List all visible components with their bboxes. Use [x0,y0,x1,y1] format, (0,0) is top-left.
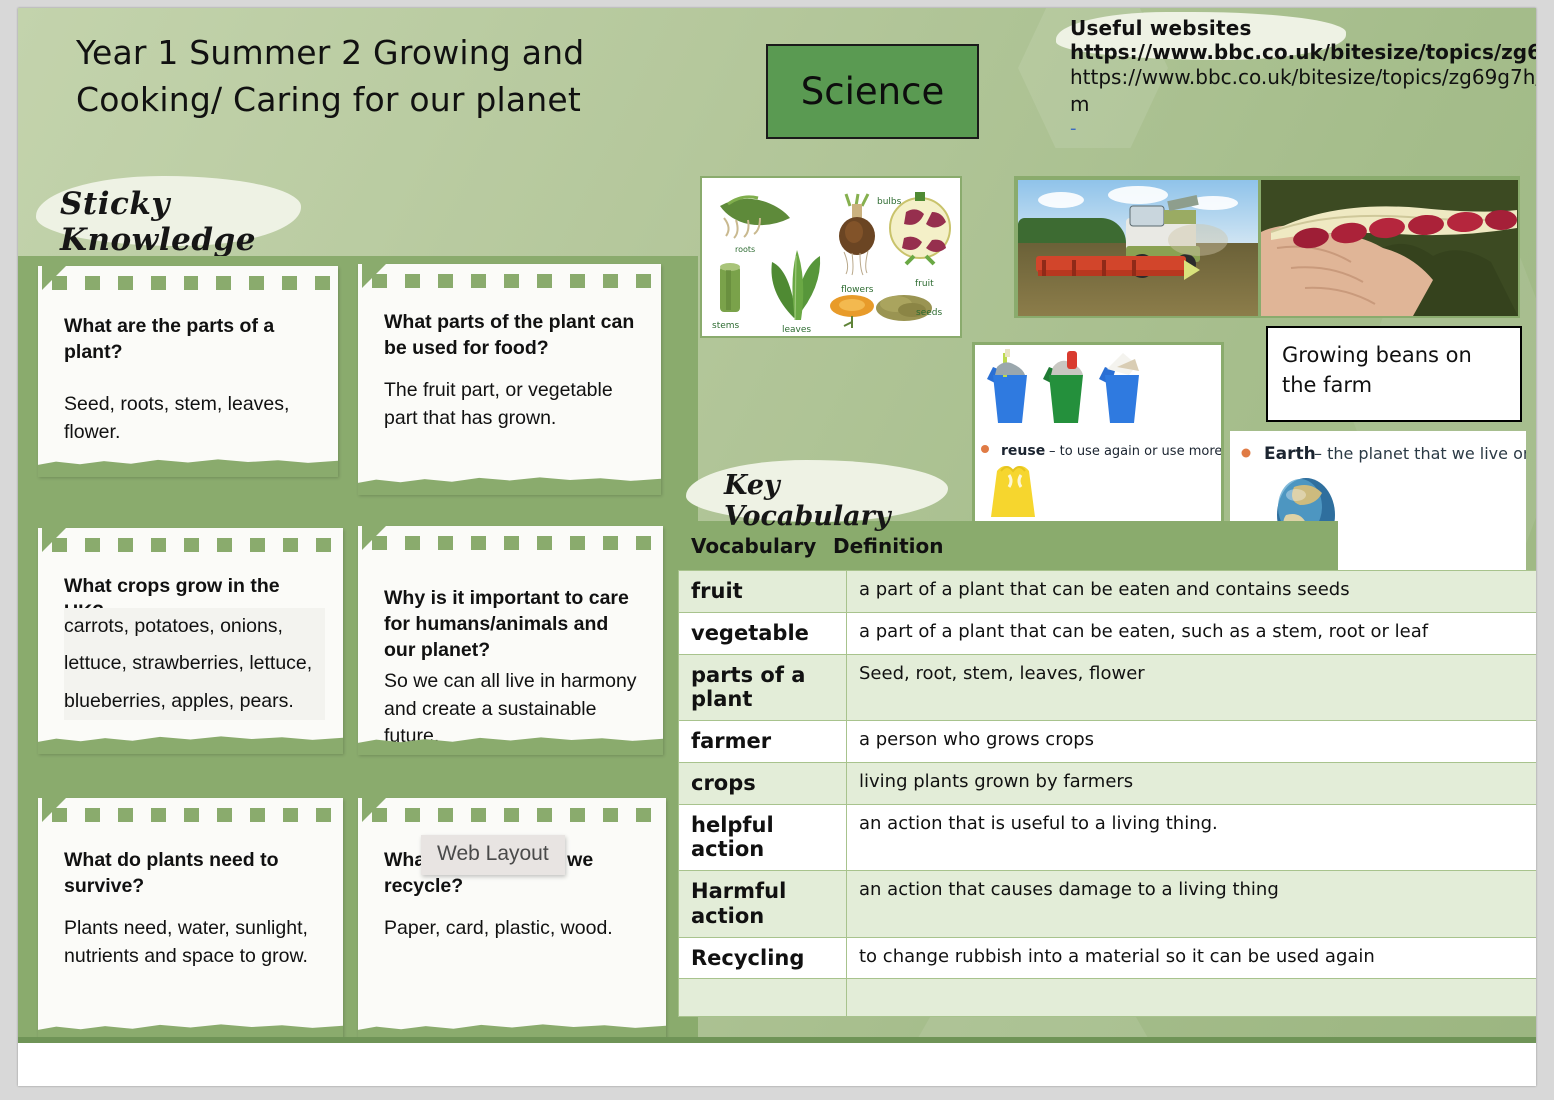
card-question: What do plants need to survive? [64,848,325,900]
card-answer: So we can all live in harmony and create… [384,668,645,751]
farm-caption-box: Growing beans on the farm [1266,326,1522,422]
farm-photos-strip [1014,176,1520,318]
table-row: vegetable a part of a plant that can be … [679,612,1537,654]
useful-websites-heading: Useful websites [1070,16,1536,40]
vocab-definition: to change rubbish into a material so it … [847,937,1537,979]
table-row-empty [679,979,1537,1017]
perforation-strip [52,538,335,552]
sticky-note-card: What parts of the plant can be used for … [358,264,661,494]
svg-text:Earth: Earth [1264,444,1316,464]
svg-text:stems: stems [712,321,740,331]
perforation-strip [52,808,335,822]
perforation-strip [372,536,655,550]
vocab-term: fruit [679,571,847,613]
vocab-term: Harmful action [679,871,847,938]
sticky-note-card: What crops grow in the UK? carrots, pota… [38,528,343,753]
card-question: Why is it important to care for humans/a… [384,586,645,664]
web-layout-tooltip: Web Layout [421,835,565,875]
vocab-term: parts of a plant [679,654,847,721]
bean-pod-photo [1261,180,1518,316]
table-row: farmer a person who grows crops [679,721,1537,763]
perforation-strip [372,274,653,288]
vocab-term: Recycling [679,937,847,979]
vocab-term: vegetable [679,612,847,654]
card-question: What parts of the plant can be used for … [384,310,643,362]
svg-text:leaves: leaves [782,325,811,335]
card-answer: Seed, roots, stem, leaves, flower. [64,391,320,446]
sticky-note-card: What do plants need to survive? Plants n… [38,798,343,1041]
svg-text:roots: roots [735,245,755,254]
svg-text:reuse: reuse [1001,443,1045,459]
recycling-bins-icon: reuse – to use again or use more than on… [975,345,1221,521]
combine-harvester-photo [1018,180,1258,316]
vocab-term: helpful action [679,804,847,871]
vocab-definition: an action that is useful to a living thi… [847,804,1537,871]
tooltip-label: Web Layout [437,842,549,865]
column-header-vocabulary: Vocabulary [691,534,816,558]
vocab-term: farmer [679,721,847,763]
svg-text:seeds: seeds [916,308,942,318]
key-vocabulary-banner: Key Vocabulary [686,460,948,522]
sticky-knowledge-label: Sticky Knowledge [60,186,301,258]
torn-edge-decoration [38,732,343,754]
torn-edge-decoration [38,455,338,477]
subject-badge: Science [766,44,979,139]
table-row: Recycling to change rubbish into a mater… [679,937,1537,979]
table-row: fruit a part of a plant that can be eate… [679,571,1537,613]
sticky-note-card: Why is it important to care for humans/a… [358,526,663,754]
column-header-definition: Definition [833,534,943,558]
plant-parts-diagram-image: roots stems leaves [700,176,962,338]
perforation-strip [372,808,658,822]
website-link-1[interactable]: https://www.bbc.co.uk/bitesize/topics/zg… [1070,40,1536,64]
svg-text:bulbs: bulbs [877,197,902,207]
table-row: parts of a plant Seed, root, stem, leave… [679,654,1537,721]
reuse-info-card: reuse – to use again or use more than on… [972,342,1224,524]
vocab-definition: an action that causes damage to a living… [847,871,1537,938]
sticky-knowledge-banner: Sticky Knowledge [36,176,301,246]
vocab-definition: a person who grows crops [847,721,1537,763]
card-answer: The fruit part, or vegetable part that h… [384,377,643,432]
card-question: What are the parts of a plant? [64,314,320,366]
svg-text:– to use again or use more tha: – to use again or use more than once [1049,444,1221,459]
svg-text:fruit: fruit [915,279,934,289]
vocab-term [679,979,847,1017]
table-row: helpful action an action that is useful … [679,804,1537,871]
document-page-container: Year 1 Summer 2 Growing and Cooking/ Car… [0,0,1554,1100]
knowledge-organiser-canvas: Year 1 Summer 2 Growing and Cooking/ Car… [18,8,1536,1043]
bean-pod-icon [1261,180,1518,316]
useful-websites-block: Useful websites https://www.bbc.co.uk/bi… [1070,16,1536,139]
subject-label: Science [801,70,944,113]
table-row: crops living plants grown by farmers [679,762,1537,804]
svg-text:– the planet that we live on: – the planet that we live on [1314,444,1526,463]
page-title: Year 1 Summer 2 Growing and Cooking/ Car… [76,30,736,124]
website-link-2[interactable]: https://www.bbc.co.uk/bitesize/topics/zg… [1070,64,1536,91]
card-answer: Paper, card, plastic, wood. [384,915,648,943]
perforation-strip [52,276,330,290]
page-bottom-margin [18,1043,1536,1086]
torn-edge-decoration [358,473,661,495]
link-underline-fragment: - [1070,118,1536,139]
key-vocabulary-label: Key Vocabulary [724,470,948,532]
farm-caption-text: Growing beans on the farm [1282,343,1472,397]
table-row: Harmful action an action that causes dam… [679,871,1537,938]
vocab-definition: living plants grown by farmers [847,762,1537,804]
card-answer: carrots, potatoes, onions, lettuce, stra… [64,608,325,720]
svg-text:flowers: flowers [841,285,874,295]
document-sheet: Year 1 Summer 2 Growing and Cooking/ Car… [18,8,1536,1086]
vocab-term: crops [679,762,847,804]
sticky-note-card: What are the parts of a plant? Seed, roo… [38,266,338,476]
vocabulary-table: fruit a part of a plant that can be eate… [678,570,1536,1017]
plant-parts-illustration-icon: roots stems leaves [702,178,960,336]
vocab-definition [847,979,1537,1017]
harvester-icon [1018,180,1258,316]
vocab-definition: a part of a plant that can be eaten and … [847,571,1537,613]
card-answer: Plants need, water, sunlight, nutrients … [64,915,325,970]
website-link-2-overflow: m [1070,91,1536,118]
vocab-definition: Seed, root, stem, leaves, flower [847,654,1537,721]
vocab-definition: a part of a plant that can be eaten, suc… [847,612,1537,654]
